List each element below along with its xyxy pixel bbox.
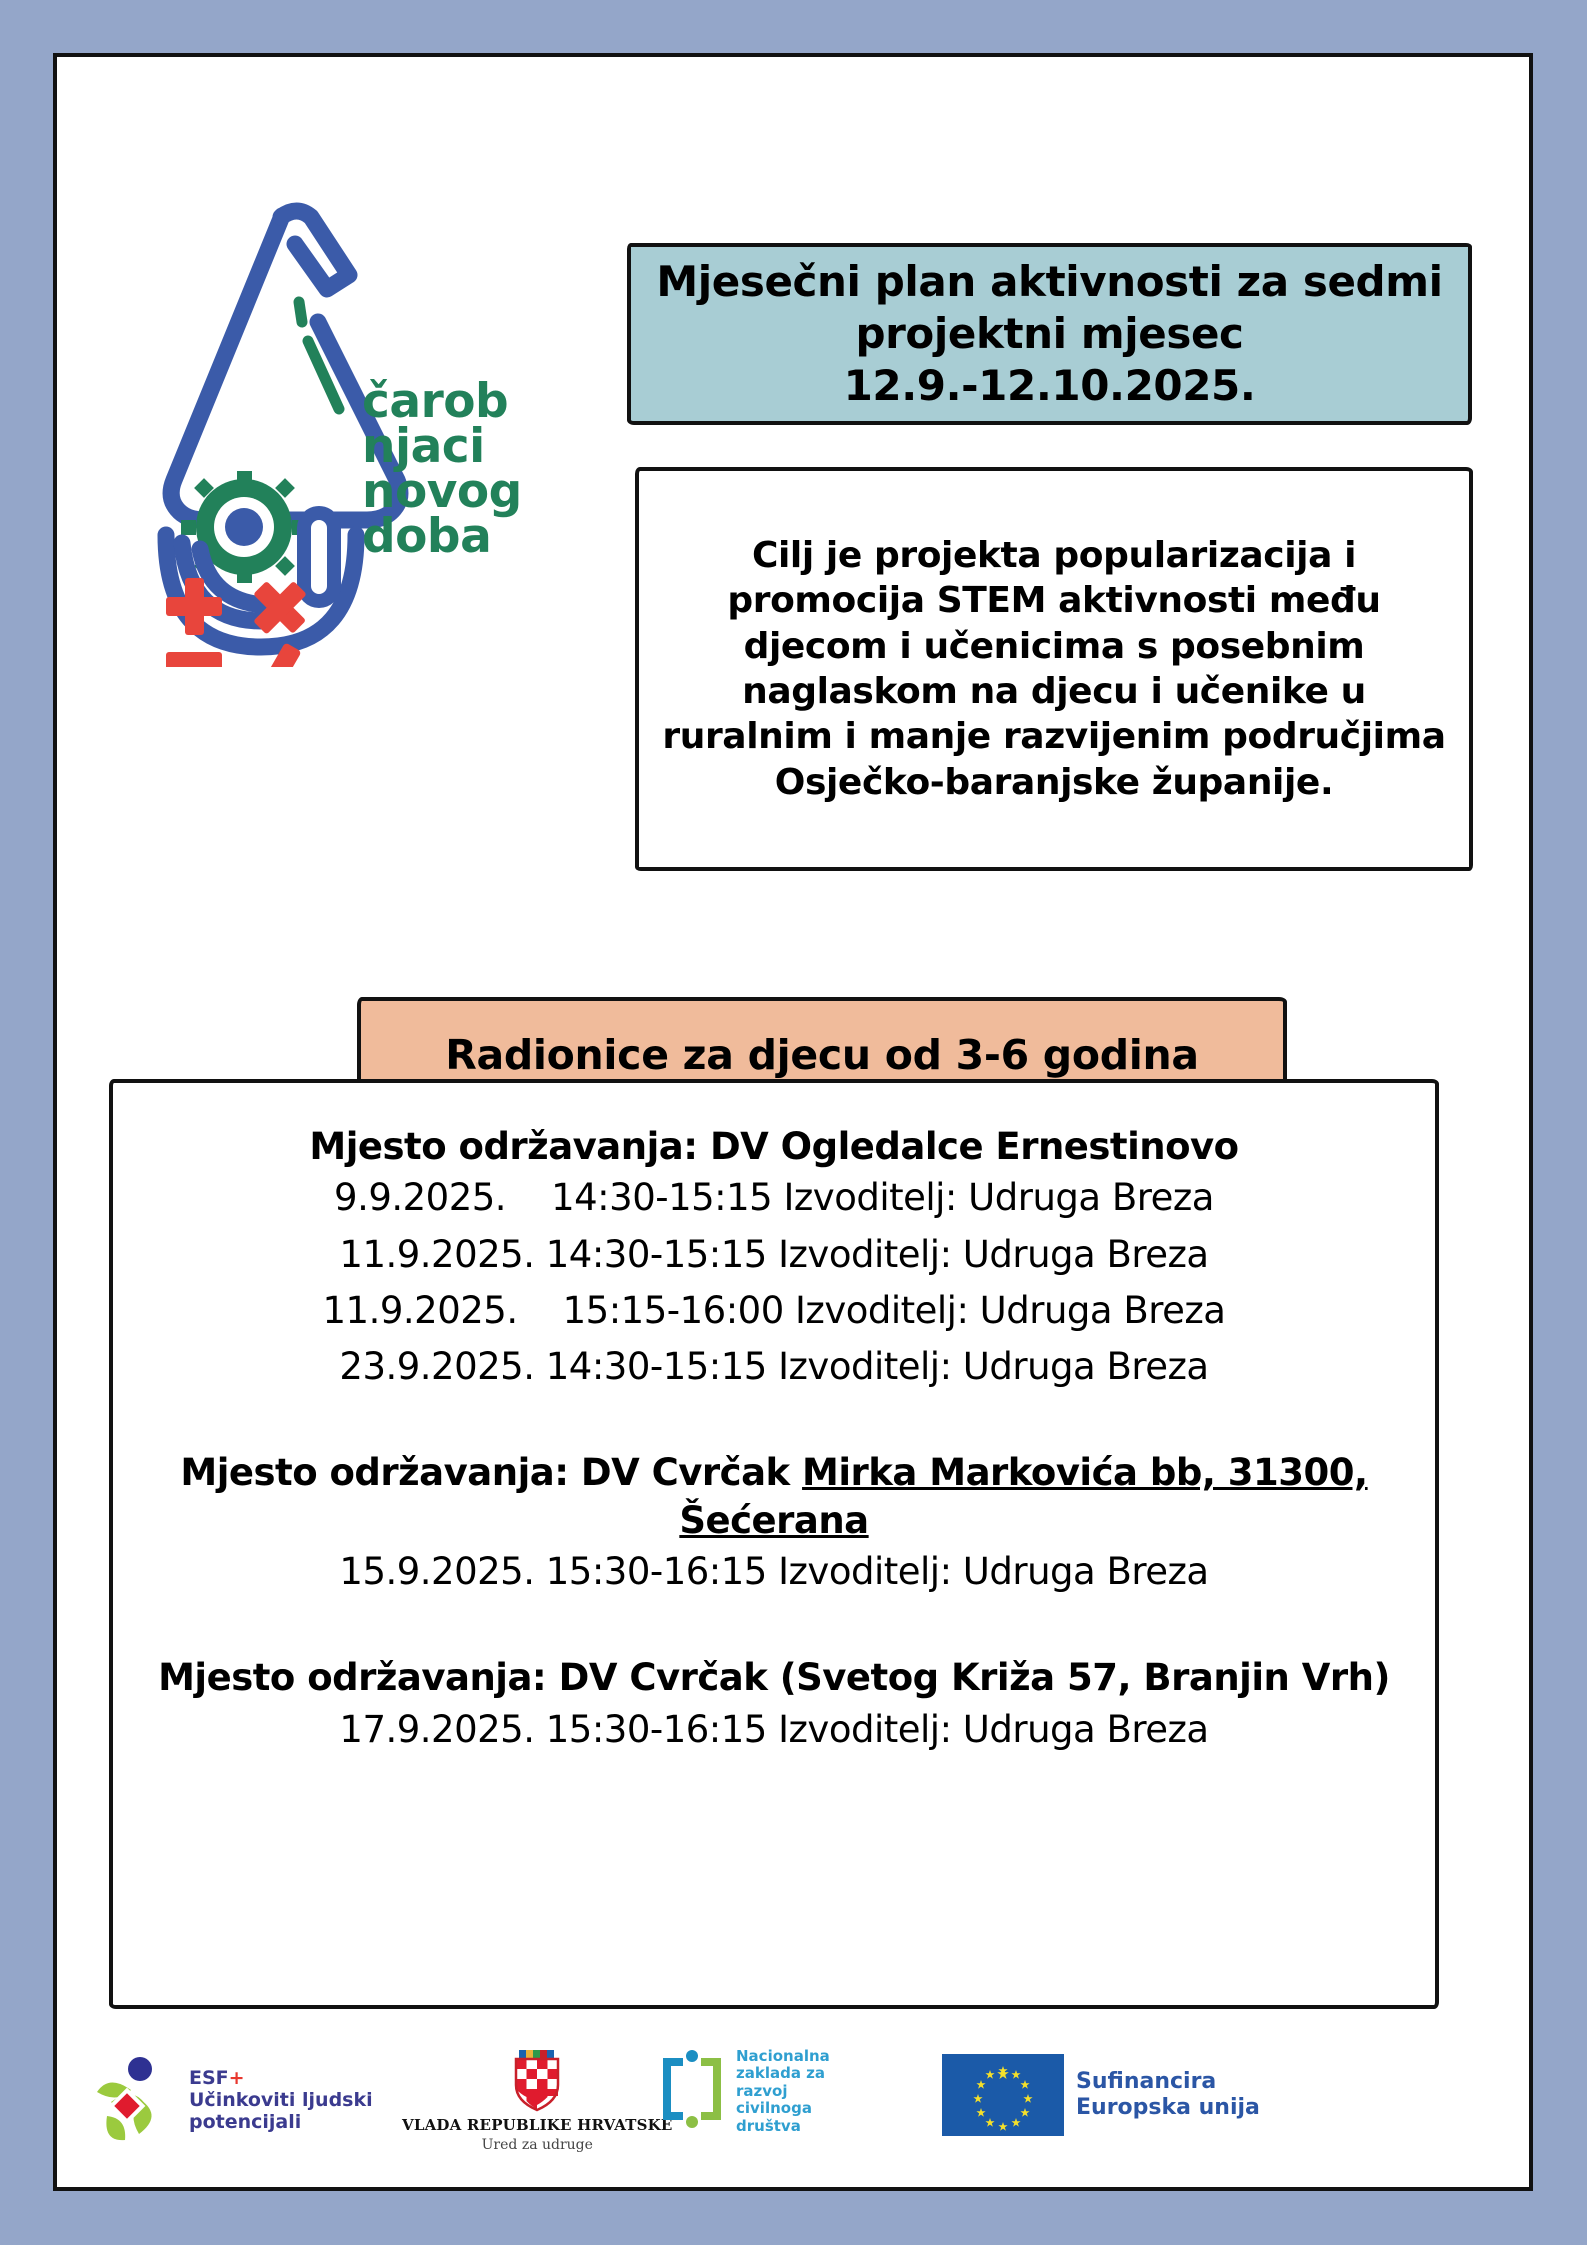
vlada-line-2: Ured za udruge xyxy=(482,2137,593,2153)
venue-heading-plain: Mjesto održavanja: DV Cvrčak (Svetog Kri… xyxy=(158,1656,1390,1699)
session-row: 11.9.2025. 14:30-15:15 Izvoditelj: Udrug… xyxy=(135,1227,1413,1283)
logo-word-line-3: novog xyxy=(362,469,522,514)
organization-logo: čarob njaci novog doba xyxy=(152,197,572,667)
european-union-logo: Sufinancira Europska unija xyxy=(942,2054,1260,2136)
spacer xyxy=(135,1608,1413,1654)
eu-line-2: Europska unija xyxy=(1076,2095,1260,2121)
footer-logos: ESF+ Učinkoviti ljudski potencijali xyxy=(57,2032,1529,2182)
venue-block: Mjesto održavanja: DV Cvrčak (Svetog Kri… xyxy=(135,1654,1413,1758)
session-row: 23.9.2025. 14:30-15:15 Izvoditelj: Udrug… xyxy=(135,1339,1413,1395)
logo-wordmark: čarob njaci novog doba xyxy=(362,379,522,559)
zaklada-line-1: Nacionalna xyxy=(736,2048,830,2065)
project-goal-box: Cilj je projekta popularizacija i promoc… xyxy=(635,467,1473,871)
venue-heading-plain: Mjesto održavanja: DV Ogledalce Ernestin… xyxy=(309,1125,1238,1168)
venue-heading: Mjesto održavanja: DV Cvrčak (Svetog Kri… xyxy=(135,1654,1413,1701)
project-goal-text: Cilj je projekta popularizacija i promoc… xyxy=(655,533,1453,805)
workshops-banner-text: Radionice za djecu od 3-6 godina xyxy=(445,1031,1199,1079)
esf-line-1: ESF+ xyxy=(189,2067,373,2089)
brackets-icon xyxy=(657,2044,727,2139)
nose-icon xyxy=(304,513,334,601)
esf-line-3: potencijali xyxy=(189,2111,373,2133)
eu-flag-icon xyxy=(942,2054,1064,2136)
schedule-box: Mjesto održavanja: DV Ogledalce Ernestin… xyxy=(109,1079,1439,2009)
venue-heading-plain: Mjesto održavanja: DV Cvrčak xyxy=(180,1451,802,1494)
croatian-government-logo: VLADA REPUBLIKE HRVATSKE Ured za udruge xyxy=(402,2048,673,2153)
venue-block: Mjesto održavanja: DV Cvrčak Mirka Marko… xyxy=(135,1449,1413,1600)
logo-word-line-4: doba xyxy=(362,514,522,559)
croatian-coat-of-arms-icon xyxy=(509,2048,565,2112)
session-row: 15.9.2025. 15:30-16:15 Izvoditelj: Udrug… xyxy=(135,1544,1413,1600)
zaklada-line-3: razvoj xyxy=(736,2083,830,2100)
spacer xyxy=(135,1403,1413,1449)
esf-pinwheel-icon xyxy=(87,2054,179,2146)
session-row: 9.9.2025. 14:30-15:15 Izvoditelj: Udruga… xyxy=(135,1170,1413,1226)
eu-line-1: Sufinancira xyxy=(1076,2069,1260,2095)
zaklada-text: Nacionalna zaklada za razvoj civilnoga d… xyxy=(736,2048,830,2135)
hat-tip-icon xyxy=(281,211,349,289)
sparkle-dot-icon xyxy=(299,302,302,322)
session-row: 11.9.2025. 15:15-16:00 Izvoditelj: Udrug… xyxy=(135,1283,1413,1339)
venue-heading: Mjesto održavanja: DV Cvrčak Mirka Marko… xyxy=(135,1449,1413,1544)
title-text: Mjesečni plan aktivnosti za sedmi projek… xyxy=(643,256,1456,412)
zaklada-line-2: zaklada za xyxy=(736,2065,830,2082)
venue-heading: Mjesto održavanja: DV Ogledalce Ernestin… xyxy=(135,1123,1413,1170)
esf-plus-logo: ESF+ Učinkoviti ljudski potencijali xyxy=(87,2054,373,2146)
logo-word-line-1: čarob xyxy=(362,379,522,424)
title-box: Mjesečni plan aktivnosti za sedmi projek… xyxy=(627,243,1472,425)
session-row: 17.9.2025. 15:30-16:15 Izvoditelj: Udrug… xyxy=(135,1702,1413,1758)
zaklada-line-4: civilnoga xyxy=(736,2100,830,2117)
zaklada-line-5: društva xyxy=(736,2118,830,2135)
vlada-line-1: VLADA REPUBLIKE HRVATSKE xyxy=(402,2116,673,2134)
esf-text: ESF+ Učinkoviti ljudski potencijali xyxy=(189,2067,373,2133)
eu-text: Sufinancira Europska unija xyxy=(1076,2069,1260,2120)
venue-block: Mjesto održavanja: DV Ogledalce Ernestin… xyxy=(135,1123,1413,1395)
national-foundation-logo: Nacionalna zaklada za razvoj civilnoga d… xyxy=(657,2044,830,2139)
poster-page: čarob njaci novog doba Mjesečni plan akt… xyxy=(53,53,1533,2191)
esf-line-2: Učinkoviti ljudski xyxy=(189,2089,373,2111)
logo-word-line-2: njaci xyxy=(362,424,522,469)
